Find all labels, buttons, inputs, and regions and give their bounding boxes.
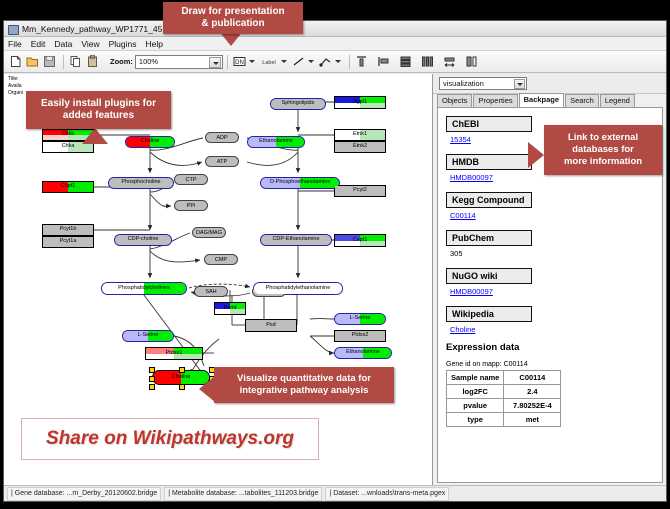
expression-table: Sample name C00114 log2FC 2.4 pvalue 7.8…: [446, 370, 561, 427]
table-row: pvalue 7.80252E-4: [447, 399, 561, 413]
cell-label-sample-name: Sample name: [447, 371, 504, 385]
paste-icon[interactable]: [85, 54, 100, 69]
gene-node[interactable]: Sgpl1: [334, 96, 386, 109]
datanode-dropdown-icon[interactable]: [249, 54, 256, 69]
cofactor-node[interactable]: PPi: [174, 200, 208, 211]
callout-visualize: Visualize quantitative data for integrat…: [214, 367, 394, 403]
table-row: Sample name C00114: [447, 371, 561, 385]
save-icon[interactable]: [42, 54, 57, 69]
backpage-header-hmdb: HMDB: [446, 154, 532, 170]
callout-plugins: Easily install plugins for added feature…: [26, 91, 171, 129]
backpage-header-chebi: ChEBI: [446, 116, 532, 132]
callout-visualize-arrow: [199, 376, 215, 402]
gene-label: Psd: [266, 323, 275, 329]
metabolite-node[interactable]: L-Serine: [122, 330, 174, 342]
toolbar-separator-2: [227, 55, 228, 69]
gene-label: Cept1: [353, 238, 368, 244]
callout-plugins-line2: added features: [41, 110, 156, 122]
zoom-value: 100%: [139, 57, 158, 66]
metabolite-label: CDP-Ethanolamine: [272, 237, 319, 243]
tab-backpage[interactable]: Backpage: [519, 93, 564, 107]
metabolite-node[interactable]: CDP-choline: [114, 234, 172, 246]
callout-draw: Draw for presentation & publication: [163, 2, 303, 34]
align-left-icon[interactable]: [376, 54, 391, 69]
distribute-icon[interactable]: [420, 54, 435, 69]
metabolite-label: CDP-choline: [128, 237, 159, 243]
selection-handle[interactable]: [149, 384, 155, 390]
title-bar: Mm_Kennedy_pathway_WP1771_45176.gp: [4, 21, 666, 37]
toolbar-separator-1: [63, 55, 64, 69]
toolbar-separator-3: [349, 55, 350, 69]
status-dataset: | Dataset: ...wnloads\trans-meta.pgex: [325, 487, 449, 501]
metabolite-node[interactable]: Phosphatidylcholines: [101, 282, 187, 295]
cell-value-log2fc: 2.4: [504, 385, 561, 399]
cofactor-label: DAG/MAG: [196, 230, 222, 236]
zoom-label: Zoom:: [110, 57, 133, 66]
cell-label-log2fc: log2FC: [447, 385, 504, 399]
tab-search[interactable]: Search: [565, 94, 599, 107]
menu-item-view[interactable]: View: [81, 39, 99, 49]
visualization-select[interactable]: visualization: [439, 77, 527, 90]
tab-objects[interactable]: Objects: [437, 94, 472, 107]
backpage-header-kegg: Kegg Compound: [446, 192, 532, 208]
status-gene-database: | Gene database: ...m_Derby_20120602.bri…: [7, 487, 161, 501]
tool-bar: Zoom: 100% DN Label: [4, 51, 666, 73]
gene-node[interactable]: Psd: [245, 319, 297, 332]
callout-link-line1: Link to external: [564, 132, 642, 144]
cell-value-sample-name: C00114: [504, 371, 561, 385]
callout-plugins-arrow: [82, 128, 108, 144]
menu-bar: File Edit Data View Plugins Help: [4, 37, 666, 51]
cofactor-node[interactable]: CMP: [204, 254, 238, 265]
cofactor-label: ADP: [216, 135, 227, 141]
metabolite-label: Ethanolamine: [259, 139, 293, 145]
metabolite-node[interactable]: Ethanolamine: [247, 136, 305, 148]
backpage-header-pubchem: PubChem: [446, 230, 532, 246]
gene-label: Chkb: [62, 132, 75, 138]
metabolite-label: Phosphatidylethanolamine: [266, 286, 331, 292]
status-bar: | Gene database: ...m_Derby_20120602.bri…: [4, 485, 666, 501]
pathvisio-window: Mm_Kennedy_pathway_WP1771_45176.gp File …: [3, 20, 667, 502]
label-tool-icon[interactable]: Label: [259, 54, 279, 69]
gene-node[interactable]: Pcyt2: [334, 185, 386, 197]
svg-text:DN: DN: [235, 60, 244, 66]
metabolite-node[interactable]: O-Phosphoethanolamine: [260, 177, 340, 189]
callout-plugins-line1: Easily install plugins for: [41, 98, 156, 110]
table-row: log2FC 2.4: [447, 385, 561, 399]
cell-label-pvalue: pvalue: [447, 399, 504, 413]
selection-handle[interactable]: [149, 376, 155, 382]
backpage-header-wikipedia: Wikipedia: [446, 306, 532, 322]
interaction-tool-icon[interactable]: [318, 54, 333, 69]
gene-node[interactable]: Pcyt1a: [42, 236, 94, 248]
line-dropdown-icon[interactable]: [308, 54, 315, 69]
metabolite-node[interactable]: Ethanolamine: [334, 347, 392, 359]
metabolite-label: Phosphatidylcholines: [118, 286, 170, 292]
callout-draw-line2: & publication: [181, 18, 284, 30]
backpage-link-kegg[interactable]: C00114: [450, 211, 662, 220]
label-dropdown-icon[interactable]: [281, 54, 288, 69]
callout-share-text: Share on Wikipathways.org: [46, 428, 294, 450]
gene-label: Ptdss1: [166, 351, 183, 357]
gene-label: Ptdss2: [352, 333, 369, 339]
pathway-canvas[interactable]: Title: Availa Organi: [4, 74, 433, 485]
metabolite-label: Phosphocholine: [121, 180, 160, 186]
callout-share: Share on Wikipathways.org: [21, 418, 319, 460]
metabolite-node[interactable]: Sphingolipids: [270, 98, 326, 110]
metabolite-node[interactable]: Choline: [125, 136, 175, 148]
selection-handle[interactable]: [179, 367, 185, 373]
screenshot-root: Mm_Kennedy_pathway_WP1771_45176.gp File …: [0, 0, 670, 509]
visualization-bar: visualization: [433, 74, 666, 94]
backpage-link-wikipedia[interactable]: Choline: [450, 325, 662, 334]
metabolite-label: L-Serine: [138, 333, 159, 339]
menu-item-data[interactable]: Data: [54, 39, 72, 49]
gene-node[interactable]: Etnk1: [334, 129, 386, 141]
selection-handle[interactable]: [149, 367, 155, 373]
gene-label: Sgpl1: [353, 100, 367, 106]
align-top-icon[interactable]: [354, 54, 369, 69]
app-icon: [8, 24, 18, 34]
cofactor-node[interactable]: SAH: [194, 286, 228, 297]
gene-label: Pemt: [224, 306, 237, 312]
gene-label: Pcyt2: [353, 188, 367, 194]
cofactor-node[interactable]: DAG/MAG: [192, 227, 226, 238]
menu-item-plugins[interactable]: Plugins: [109, 39, 137, 49]
callout-link-arrow: [528, 142, 544, 168]
cofactor-node[interactable]: ADP: [205, 132, 239, 143]
cofactor-label: CMP: [215, 257, 227, 263]
svg-text:Label: Label: [262, 60, 275, 66]
metabolite-node[interactable]: L-Serine: [334, 313, 386, 325]
gene-node[interactable]: Ptdss2: [334, 330, 386, 342]
callout-link: Link to external databases for more info…: [544, 125, 662, 175]
datanode-icon[interactable]: DN: [232, 54, 247, 69]
stack-center-icon[interactable]: [398, 54, 413, 69]
metabolite-node[interactable]: CDP-Ethanolamine: [260, 234, 332, 246]
gene-label: Etnk2: [353, 144, 367, 150]
backpage-header-nugo: NuGO wiki: [446, 268, 532, 284]
selection-handle[interactable]: [179, 384, 185, 390]
metabolite-label: Choline: [172, 375, 191, 381]
cofactor-label: PPi: [187, 203, 196, 209]
gene-label: Pcyt1b: [60, 227, 77, 233]
menu-item-edit[interactable]: Edit: [31, 39, 46, 49]
line-tool-icon[interactable]: [291, 54, 306, 69]
cell-value-type: met: [504, 413, 561, 427]
common-height-icon[interactable]: [464, 54, 479, 69]
metabolite-label: Choline: [141, 139, 160, 145]
side-panel-tabs: Objects Properties Backpage Search Legen…: [433, 94, 666, 107]
gene-id-line: Gene id on mapp: C00114: [446, 361, 662, 368]
gene-node[interactable]: Cept1: [334, 234, 386, 247]
visualization-value: visualization: [443, 79, 484, 88]
gene-label: Chpt1: [61, 184, 76, 190]
gene-label: Chka: [62, 144, 75, 150]
gene-node[interactable]: Chpt1: [42, 181, 94, 193]
menu-item-file[interactable]: File: [8, 39, 22, 49]
copy-icon[interactable]: [68, 54, 83, 69]
gene-node[interactable]: Pemt: [214, 302, 246, 315]
gene-node[interactable]: Ptdss1: [145, 347, 203, 360]
callout-link-line2: databases for: [564, 144, 642, 156]
gene-label: Pcyt1a: [60, 239, 77, 245]
new-file-icon[interactable]: [8, 54, 23, 69]
tab-properties[interactable]: Properties: [473, 94, 517, 107]
metabolite-node[interactable]: Phosphatidylethanolamine: [253, 282, 343, 295]
gene-label: Etnk1: [353, 132, 367, 138]
open-folder-icon[interactable]: [25, 54, 40, 69]
callout-visualize-line1: Visualize quantitative data for: [237, 373, 371, 385]
menu-item-help[interactable]: Help: [146, 39, 163, 49]
gene-node[interactable]: Pcyt1b: [42, 224, 94, 236]
zoom-select[interactable]: 100%: [135, 55, 223, 69]
callout-link-line3: more information: [564, 156, 642, 168]
common-width-icon[interactable]: [442, 54, 457, 69]
cell-value-pvalue: 7.80252E-4: [504, 399, 561, 413]
callout-draw-line1: Draw for presentation: [181, 6, 284, 18]
cofactor-label: ATP: [217, 159, 227, 165]
tab-legend[interactable]: Legend: [600, 94, 635, 107]
metabolite-label: L-Serine: [350, 316, 371, 322]
cofactor-label: SAH: [205, 289, 216, 295]
status-metabolite-database: | Metabolite database: ...tabolites_1112…: [164, 487, 322, 501]
backpage-value-pubchem: 305: [450, 249, 662, 258]
gene-node[interactable]: Etnk2: [334, 141, 386, 153]
chevron-down-icon[interactable]: [514, 79, 525, 89]
backpage-link-nugo[interactable]: HMDB00097: [450, 287, 662, 296]
cofactor-node[interactable]: ATP: [205, 156, 239, 167]
table-row: type met: [447, 413, 561, 427]
callout-visualize-line2: integrative pathway analysis: [237, 385, 371, 397]
expression-data-title: Expression data: [446, 342, 662, 353]
metabolite-label: Sphingolipids: [282, 101, 315, 107]
cofactor-label: CTP: [186, 177, 197, 183]
metabolite-node[interactable]: Phosphocholine: [108, 177, 174, 189]
cofactor-node[interactable]: CTP: [174, 174, 208, 185]
interaction-dropdown-icon[interactable]: [335, 54, 342, 69]
cell-label-type: type: [447, 413, 504, 427]
metabolite-label: Ethanolamine: [346, 350, 380, 356]
chevron-down-icon[interactable]: [209, 57, 221, 68]
metabolite-label: O-Phosphoethanolamine: [270, 180, 331, 186]
